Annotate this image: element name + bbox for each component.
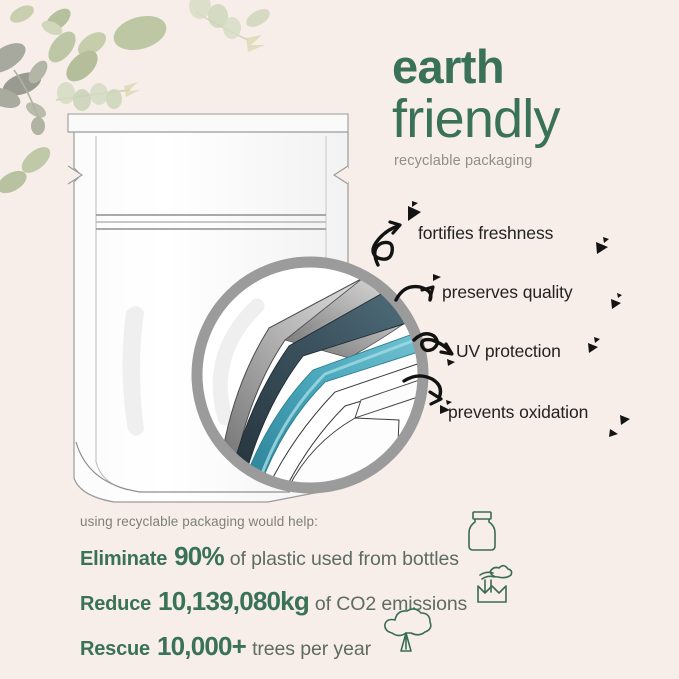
- stat-row-eliminate: Eliminate 90% of plastic used from bottl…: [80, 541, 600, 572]
- leaf-icon: [223, 17, 241, 39]
- feature-label-prevents-oxidation: prevents oxidation: [448, 402, 588, 423]
- stat-row-rescue: Rescue 10,000+ trees per year: [80, 631, 600, 662]
- feature-label-fortifies-freshness: fortifies freshness: [418, 223, 553, 244]
- stem-icon: [56, 90, 130, 100]
- leaf-icon: [73, 89, 91, 111]
- stat-row-reduce: Reduce 10,139,080kg of CO2 emissions: [80, 586, 600, 617]
- leaf-icon: [246, 35, 265, 52]
- stem-icon: [196, 12, 248, 40]
- leaf-icon: [90, 83, 108, 105]
- stat-tail: of plastic used from bottles: [230, 548, 459, 571]
- leaf-icon: [124, 82, 140, 97]
- leaf-icon: [7, 2, 37, 27]
- stats-intro: using recyclable packaging would help:: [80, 514, 600, 529]
- headline-block: earth friendly recyclable packaging: [392, 44, 672, 169]
- leaf-icon: [25, 57, 51, 86]
- leaf-icon: [0, 37, 30, 79]
- leaf-icon: [31, 117, 45, 135]
- stat-tail: trees per year: [252, 638, 371, 661]
- feature-label-uv-protection: UV protection: [456, 341, 561, 362]
- leaf-icon: [41, 4, 74, 36]
- stat-verb: Eliminate: [80, 548, 167, 571]
- leaf-icon: [23, 99, 48, 120]
- leaf-icon: [17, 142, 55, 178]
- stat-verb: Reduce: [80, 593, 151, 616]
- earth-friendly-packaging-poster: earth friendly recyclable packaging fort…: [0, 0, 679, 679]
- magnifier-cutaway: [185, 250, 435, 500]
- stat-value: 10,139,080kg: [158, 586, 309, 617]
- stats-block: using recyclable packaging would help: E…: [80, 514, 600, 676]
- leaf-icon: [39, 18, 64, 38]
- leaf-icon: [57, 82, 75, 104]
- leaf-icon: [106, 89, 122, 109]
- leaf-icon: [208, 4, 228, 28]
- leaf-icon: [74, 27, 111, 60]
- leaf-icon: [243, 5, 273, 30]
- stat-verb: Rescue: [80, 638, 150, 661]
- leaf-icon: [0, 166, 30, 198]
- pouch-top-seal: [68, 114, 348, 132]
- arrow-head-icon: [390, 222, 400, 233]
- headline-subtitle: recyclable packaging: [392, 153, 672, 169]
- stat-tail: of CO2 emissions: [315, 593, 467, 616]
- leaf-icon: [110, 10, 171, 56]
- feature-label-preserves-quality: preserves quality: [442, 282, 573, 303]
- leaf-icon: [189, 0, 211, 19]
- headline-line-1: earth: [392, 44, 672, 90]
- leaf-icon: [61, 45, 104, 87]
- arrow-head-icon: [441, 344, 452, 354]
- stat-value: 10,000+: [157, 631, 246, 662]
- leaf-icon: [0, 84, 23, 112]
- stat-value: 90%: [174, 541, 224, 572]
- leaf-icon: [43, 27, 81, 68]
- headline-line-2: friendly: [392, 92, 672, 146]
- leaf-icon: [0, 68, 44, 100]
- stem-icon: [14, 70, 42, 128]
